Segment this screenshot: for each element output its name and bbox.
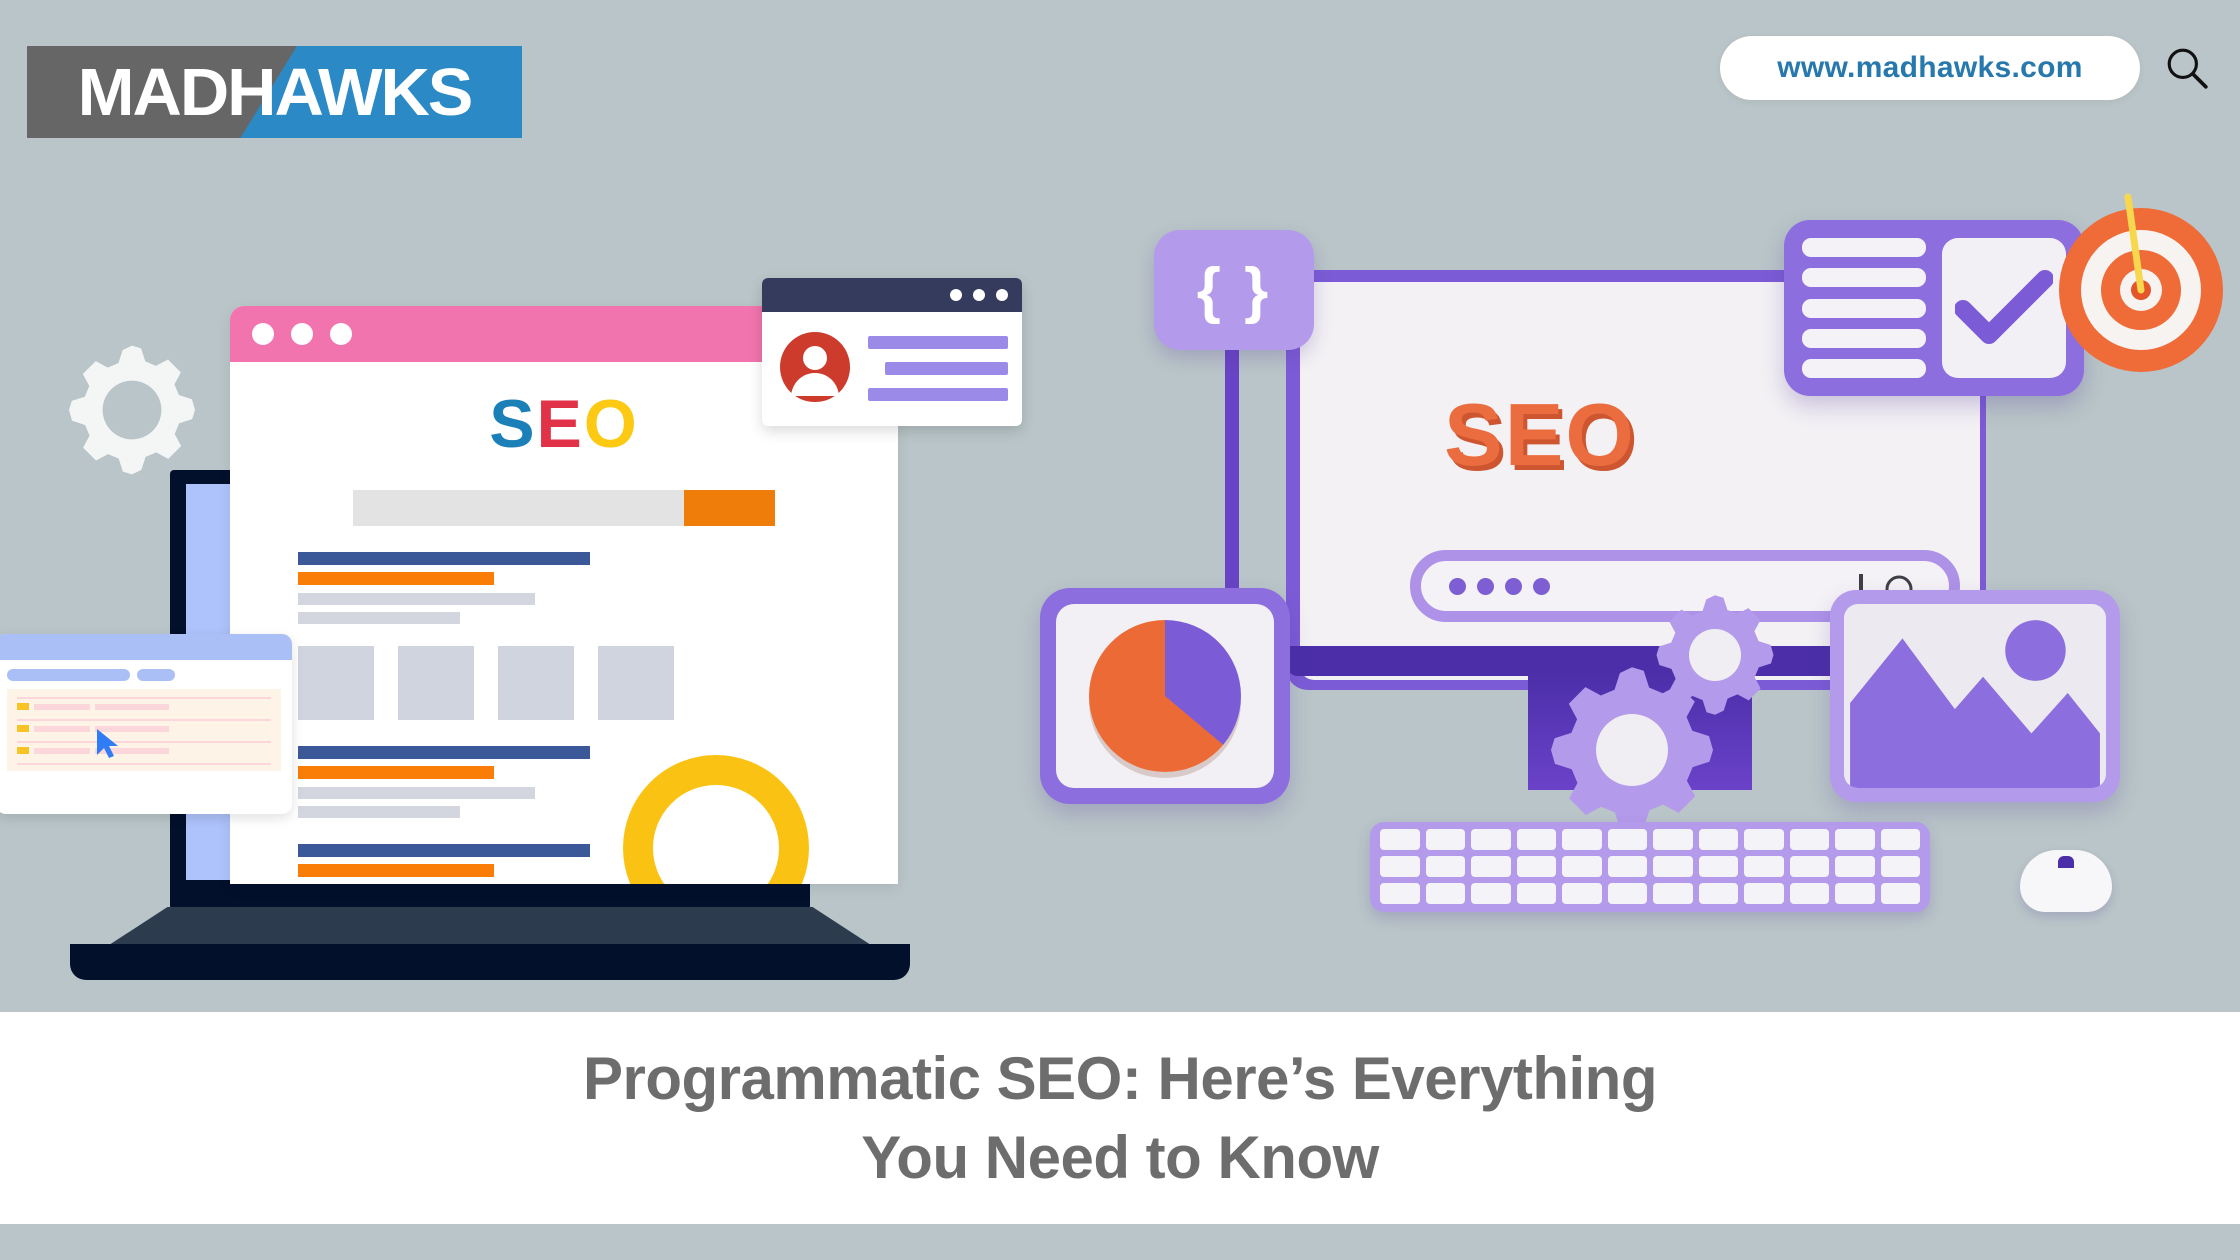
profile-card-titlebar bbox=[762, 278, 1022, 312]
mini-line bbox=[34, 748, 90, 754]
key bbox=[1699, 829, 1739, 850]
search-dot bbox=[1477, 578, 1494, 595]
key bbox=[1471, 856, 1511, 877]
browser-content: SEO bbox=[230, 362, 898, 884]
key bbox=[1608, 856, 1648, 877]
mini-row bbox=[17, 747, 271, 754]
thumbnail bbox=[498, 646, 574, 720]
key bbox=[1517, 883, 1557, 904]
result-text-line bbox=[298, 612, 460, 624]
result-url-bar bbox=[298, 766, 494, 779]
dartboard-target-icon bbox=[2046, 185, 2236, 375]
progress-bar-fill bbox=[684, 490, 775, 526]
keyboard-row bbox=[1380, 829, 1920, 850]
user-avatar-icon bbox=[778, 330, 852, 404]
result-title-bar bbox=[298, 844, 590, 857]
mini-tag bbox=[17, 747, 29, 754]
keyboard-row bbox=[1380, 883, 1920, 904]
result-title-bar bbox=[298, 552, 590, 565]
thumbnail bbox=[598, 646, 674, 720]
madhawks-logo[interactable]: MADHAWKS bbox=[27, 46, 522, 138]
checklist-bar bbox=[1802, 359, 1926, 378]
key bbox=[1562, 829, 1602, 850]
key bbox=[1471, 829, 1511, 850]
result-url-bar bbox=[298, 864, 494, 877]
search-dot bbox=[1449, 578, 1466, 595]
result-title-bar bbox=[298, 746, 590, 759]
mini-window-titlebar bbox=[0, 634, 292, 660]
checklist-card bbox=[1784, 220, 2084, 396]
seo-3d-text: SEO bbox=[1444, 384, 1636, 486]
key bbox=[1744, 829, 1784, 850]
profile-card bbox=[762, 278, 1022, 426]
checklist-bars bbox=[1802, 238, 1926, 378]
seo-letter-s: S bbox=[489, 386, 536, 462]
article-title-area: Programmatic SEO: Here’s Everything You … bbox=[0, 1012, 2240, 1224]
key bbox=[1881, 883, 1921, 904]
window-dot-2 bbox=[973, 289, 985, 301]
progress-bar bbox=[353, 490, 775, 526]
pie-chart-inner bbox=[1056, 604, 1274, 788]
image-gallery-card bbox=[1830, 590, 2120, 802]
key bbox=[1699, 856, 1739, 877]
mini-row bbox=[17, 725, 271, 732]
key bbox=[1881, 829, 1921, 850]
result-url-bar bbox=[298, 572, 494, 585]
mini-browser-window bbox=[0, 634, 292, 814]
key bbox=[1881, 856, 1921, 877]
mini-pill bbox=[137, 669, 175, 681]
keyboard-icon bbox=[1370, 822, 1930, 912]
key bbox=[1835, 829, 1875, 850]
thumbnail bbox=[398, 646, 474, 720]
image-gallery-icon bbox=[1844, 604, 2106, 788]
window-dot-3 bbox=[330, 323, 352, 345]
search-dot bbox=[1505, 578, 1522, 595]
checklist-bar bbox=[1802, 329, 1926, 348]
window-dot-2 bbox=[291, 323, 313, 345]
keyboard-row bbox=[1380, 856, 1920, 877]
key bbox=[1608, 883, 1648, 904]
key bbox=[1380, 856, 1420, 877]
key bbox=[1562, 856, 1602, 877]
mini-window-body bbox=[0, 660, 292, 780]
key bbox=[1744, 883, 1784, 904]
gear-small-icon bbox=[1650, 590, 1780, 720]
key bbox=[1517, 856, 1557, 877]
mini-pill bbox=[7, 669, 130, 681]
key bbox=[1790, 856, 1830, 877]
profile-line bbox=[868, 336, 1008, 349]
checklist-bar bbox=[1802, 238, 1926, 257]
website-url-text: www.madhawks.com bbox=[1777, 51, 2082, 85]
website-url-pill[interactable]: www.madhawks.com bbox=[1720, 36, 2140, 100]
key bbox=[1790, 829, 1830, 850]
key bbox=[1426, 883, 1466, 904]
page-root: MADHAWKS www.madhawks.com bbox=[0, 0, 2240, 1260]
window-dot-1 bbox=[252, 323, 274, 345]
checklist-bar bbox=[1802, 299, 1926, 318]
page-title-line-1: Programmatic SEO: Here’s Everything bbox=[583, 1042, 1657, 1115]
profile-line bbox=[868, 388, 1008, 401]
bottom-strip bbox=[0, 1224, 2240, 1260]
key bbox=[1380, 829, 1420, 850]
profile-line bbox=[885, 362, 1008, 375]
seo-letter-e: E bbox=[537, 386, 584, 462]
key bbox=[1426, 856, 1466, 877]
key bbox=[1471, 883, 1511, 904]
profile-card-body bbox=[762, 312, 1022, 414]
key bbox=[1562, 883, 1602, 904]
seo-letter-o: O bbox=[584, 386, 639, 462]
pie-chart-icon bbox=[1089, 620, 1241, 772]
key bbox=[1744, 856, 1784, 877]
laptop-hinge bbox=[106, 907, 874, 947]
mini-tag bbox=[17, 703, 29, 710]
mini-rule bbox=[17, 697, 271, 699]
key bbox=[1517, 829, 1557, 850]
page-title-line-2: You Need to Know bbox=[861, 1121, 1379, 1194]
mouse-scroll-button bbox=[2058, 856, 2074, 868]
mini-tag bbox=[17, 725, 29, 732]
seo-3d-illustration: { } SEO bbox=[1190, 230, 2210, 1010]
mini-rule bbox=[17, 763, 271, 765]
key bbox=[1608, 829, 1648, 850]
search-icon[interactable] bbox=[2164, 45, 2210, 91]
gear-icon bbox=[62, 340, 202, 480]
key bbox=[1835, 883, 1875, 904]
checklist-bar bbox=[1802, 268, 1926, 287]
mini-rule bbox=[17, 741, 271, 743]
key bbox=[1653, 856, 1693, 877]
search-result-item bbox=[258, 552, 870, 624]
computer-mouse-icon bbox=[2020, 850, 2112, 912]
mini-pill-row bbox=[7, 669, 281, 681]
result-text-line bbox=[298, 593, 535, 605]
window-dot-3 bbox=[996, 289, 1008, 301]
mini-rule bbox=[17, 719, 271, 721]
hero-banner: MADHAWKS www.madhawks.com bbox=[0, 0, 2240, 1012]
key bbox=[1653, 829, 1693, 850]
key bbox=[1380, 883, 1420, 904]
mini-line bbox=[34, 726, 90, 732]
key bbox=[1699, 883, 1739, 904]
checkmark-icon bbox=[1955, 269, 2053, 347]
mini-row bbox=[17, 703, 271, 710]
mini-line bbox=[34, 704, 90, 710]
result-text-line bbox=[298, 806, 460, 818]
magnifier-icon bbox=[618, 750, 858, 884]
mini-line bbox=[95, 704, 169, 710]
cursor-arrow-icon bbox=[95, 728, 121, 760]
key bbox=[1653, 883, 1693, 904]
window-dot-1 bbox=[950, 289, 962, 301]
code-brackets-icon: { } bbox=[1154, 230, 1314, 350]
laptop-base bbox=[70, 944, 910, 980]
key bbox=[1426, 829, 1466, 850]
search-dot bbox=[1533, 578, 1550, 595]
image-gallery-inner bbox=[1844, 604, 2106, 788]
logo-text: MADHAWKS bbox=[27, 46, 522, 138]
thumbnail bbox=[298, 646, 374, 720]
thumbnail-row bbox=[258, 646, 870, 720]
profile-card-lines bbox=[868, 330, 1008, 414]
mini-highlight-panel bbox=[7, 689, 281, 771]
result-text-line bbox=[298, 787, 535, 799]
pie-chart-card bbox=[1040, 588, 1290, 804]
key bbox=[1835, 856, 1875, 877]
key bbox=[1790, 883, 1830, 904]
